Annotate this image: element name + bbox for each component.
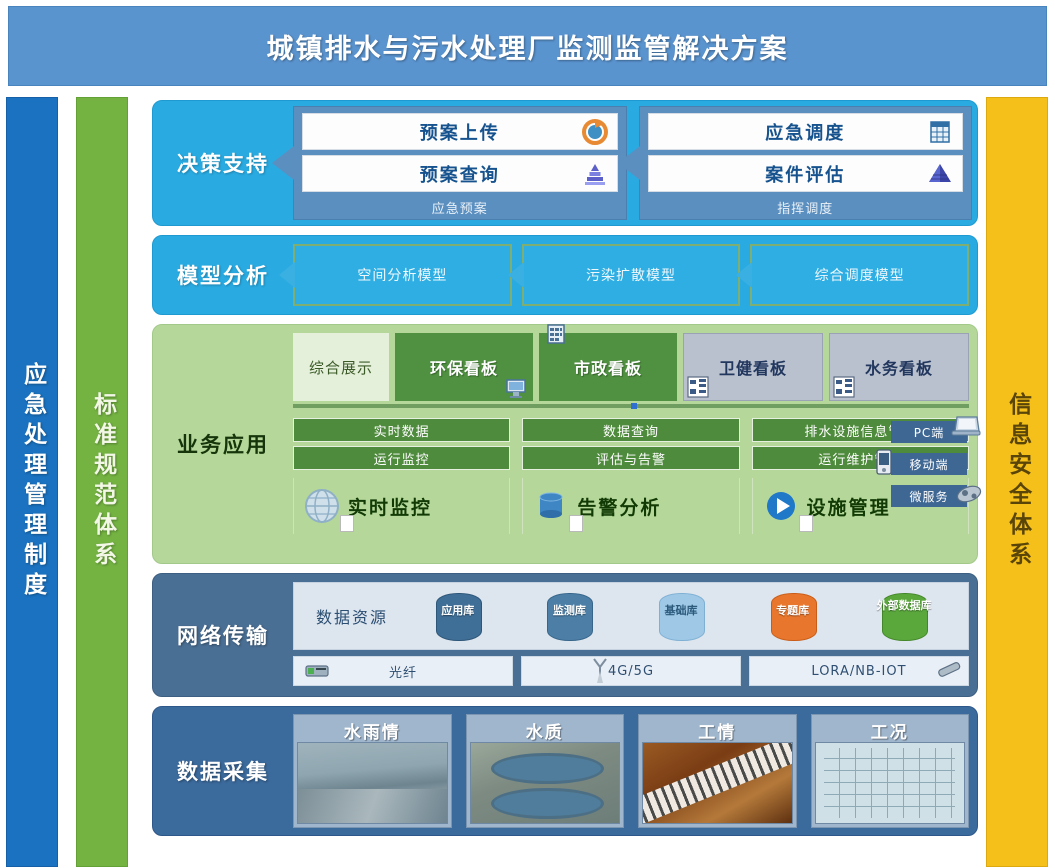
client-mobile[interactable]: 移动端 <box>891 453 967 475</box>
pyramid-chart-icon <box>582 161 608 187</box>
solution-architecture-diagram: 城镇排水与污水处理厂监测监管解决方案 应急处理管理制度 标准规范体系 信息安全体… <box>0 0 1055 868</box>
database-external-label: 外部数据库 <box>876 600 932 612</box>
client-microservice-label: 微服务 <box>909 488 948 505</box>
model-box-integrated-dispatch-label: 综合调度模型 <box>815 265 905 285</box>
network-channel-fiber[interactable]: 光纤 <box>293 656 513 686</box>
business-feature-facility-management-label: 设施管理 <box>807 493 891 520</box>
monitor-icon <box>505 377 527 399</box>
tab-underline <box>293 404 969 408</box>
collection-card-hydrology[interactable]: 水雨情 <box>293 714 452 828</box>
decision-group-emergency-plan-caption: 应急预案 <box>302 197 618 217</box>
sedimentation-tank-photo <box>470 742 621 824</box>
collection-card-operating-condition-caption: 工况 <box>815 718 966 742</box>
model-box-pollution-diffusion[interactable]: 污染扩散模型 <box>522 244 741 306</box>
layer-decision-support-label: 决策支持 <box>153 101 293 225</box>
pillar-standards-system-label: 标准规范体系 <box>89 392 114 572</box>
cylinder-shape <box>436 593 482 641</box>
decision-item-plan-query[interactable]: 预案查询 <box>302 155 618 192</box>
layer-decision-support: 决策支持 预案上传 预案查询 <box>152 100 978 226</box>
pipe-trench-photo <box>642 742 793 824</box>
database-thematic-label: 专题库 <box>765 605 821 617</box>
network-channel-lora[interactable]: LORA/NB-IOT <box>749 656 969 686</box>
tab-water-affairs-board[interactable]: 水务看板 <box>829 333 969 401</box>
layer-model-analysis-label: 模型分析 <box>153 236 293 314</box>
collection-card-engineering[interactable]: 工情 <box>638 714 797 828</box>
decision-item-emergency-dispatch-label: 应急调度 <box>765 119 845 145</box>
pillar-emergency-management-label: 应急处理管理制度 <box>19 362 44 602</box>
business-feature-realtime-monitoring[interactable]: 实时监控 <box>293 478 510 534</box>
document-badge-icon <box>799 515 813 532</box>
pillar-information-security-label: 信息安全体系 <box>1004 392 1029 572</box>
decision-group-command-dispatch: 应急调度 案件评估 <box>639 106 973 220</box>
play-circle-icon <box>761 486 801 526</box>
client-pc[interactable]: PC端 <box>891 421 967 443</box>
laptop-icon <box>951 415 981 439</box>
database-monitoring[interactable]: 监测库 <box>541 591 597 641</box>
decision-item-case-evaluation-label: 案件评估 <box>765 161 845 187</box>
tab-comprehensive-display[interactable]: 综合展示 <box>293 333 389 401</box>
cylinder-shape <box>659 593 705 641</box>
fiber-cable-icon <box>302 660 332 682</box>
business-button-operation-monitor[interactable]: 运行监控 <box>293 446 510 470</box>
pyramid-3d-icon <box>927 161 953 187</box>
database-application[interactable]: 应用库 <box>430 591 486 641</box>
tab-municipal-board[interactable]: 市政看板 <box>539 333 677 401</box>
network-channel-fiber-label: 光纤 <box>389 662 417 681</box>
decision-group-command-dispatch-caption: 指挥调度 <box>648 197 964 217</box>
page-header: 城镇排水与污水处理厂监测监管解决方案 <box>8 6 1047 86</box>
client-mobile-label: 移动端 <box>909 456 948 473</box>
business-button-data-query[interactable]: 数据查询 <box>522 418 739 442</box>
database-basic[interactable]: 基础库 <box>653 591 709 641</box>
layer-stack: 决策支持 预案上传 预案查询 <box>152 100 978 845</box>
business-feature-alarm-analysis[interactable]: 告警分析 <box>522 478 739 534</box>
decision-group-emergency-plan: 预案上传 预案查询 <box>293 106 627 220</box>
model-box-spatial[interactable]: 空间分析模型 <box>293 244 512 306</box>
collection-card-water-quality[interactable]: 水质 <box>466 714 625 828</box>
model-box-pollution-diffusion-label: 污染扩散模型 <box>586 265 676 285</box>
client-pc-label: PC端 <box>914 424 945 441</box>
database-application-label: 应用库 <box>430 605 486 617</box>
mobile-phone-icon <box>876 449 892 475</box>
gear-icon <box>955 481 983 507</box>
collection-card-operating-condition[interactable]: 工况 <box>811 714 970 828</box>
document-badge-icon <box>340 515 354 532</box>
layer-data-collection-label: 数据采集 <box>153 707 293 835</box>
database-monitoring-label: 监测库 <box>541 605 597 617</box>
collection-card-engineering-caption: 工情 <box>642 718 793 742</box>
business-column-query: 数据查询 评估与告警 <box>522 418 739 470</box>
layer-business-application-label: 业务应用 <box>153 325 293 563</box>
business-button-assessment-alarm[interactable]: 评估与告警 <box>522 446 739 470</box>
model-box-spatial-label: 空间分析模型 <box>357 265 447 285</box>
tab-health-board-label: 卫健看板 <box>719 355 787 379</box>
layer-model-analysis: 模型分析 空间分析模型 污染扩散模型 综合调度模型 <box>152 235 978 315</box>
cylinder-shape <box>771 593 817 641</box>
grid-table-icon <box>927 119 953 145</box>
tab-water-affairs-board-label: 水务看板 <box>865 355 933 379</box>
sensor-icon <box>934 658 964 682</box>
database-external[interactable]: 外部数据库 <box>876 591 932 641</box>
business-button-realtime-data[interactable]: 实时数据 <box>293 418 510 442</box>
pillar-emergency-management: 应急处理管理制度 <box>6 97 58 867</box>
collection-card-water-quality-caption: 水质 <box>470 718 621 742</box>
database-icon <box>531 486 571 526</box>
decision-item-case-evaluation[interactable]: 案件评估 <box>648 155 964 192</box>
building-icon <box>545 323 567 345</box>
tab-comprehensive-display-label: 综合展示 <box>309 357 373 378</box>
page-title: 城镇排水与污水处理厂监测监管解决方案 <box>267 27 789 66</box>
layer-network-transmission-label: 网络传输 <box>153 574 293 696</box>
circular-arrows-icon <box>582 119 608 145</box>
scada-diagram-photo <box>815 742 966 824</box>
collection-card-hydrology-caption: 水雨情 <box>297 718 448 742</box>
tab-environmental-board[interactable]: 环保看板 <box>395 333 533 401</box>
document-badge-icon <box>569 515 583 532</box>
river-channel-photo <box>297 742 448 824</box>
network-channel-4g5g[interactable]: 4G/5G <box>521 656 741 686</box>
business-feature-alarm-analysis-label: 告警分析 <box>577 493 661 520</box>
network-channel-4g5g-label: 4G/5G <box>608 664 654 679</box>
globe-icon <box>302 486 342 526</box>
decision-item-plan-query-label: 预案查询 <box>420 161 500 187</box>
cylinder-shape <box>547 593 593 641</box>
flowchart-icon <box>833 376 855 398</box>
database-basic-label: 基础库 <box>653 605 709 617</box>
tab-health-board[interactable]: 卫健看板 <box>683 333 823 401</box>
antenna-icon <box>590 657 610 685</box>
client-microservice[interactable]: 微服务 <box>891 485 967 507</box>
pillar-information-security: 信息安全体系 <box>986 97 1048 867</box>
business-column-realtime: 实时数据 运行监控 <box>293 418 510 470</box>
tab-environmental-board-label: 环保看板 <box>430 355 498 379</box>
data-resources-label: 数据资源 <box>302 604 402 628</box>
layer-network-transmission: 网络传输 数据资源 应用库 监测库 <box>152 573 978 697</box>
database-thematic[interactable]: 专题库 <box>765 591 821 641</box>
tab-municipal-board-label: 市政看板 <box>574 355 642 379</box>
flowchart-icon <box>687 376 709 398</box>
business-feature-realtime-monitoring-label: 实时监控 <box>348 493 432 520</box>
pillar-standards-system: 标准规范体系 <box>76 97 128 867</box>
layer-data-collection: 数据采集 水雨情 水质 工情 工况 <box>152 706 978 836</box>
network-channel-lora-label: LORA/NB-IOT <box>811 664 906 679</box>
decision-item-plan-upload-label: 预案上传 <box>420 119 500 145</box>
layer-business-application: 业务应用 综合展示 环保看板 <box>152 324 978 564</box>
decision-item-emergency-dispatch[interactable]: 应急调度 <box>648 113 964 150</box>
model-box-integrated-dispatch[interactable]: 综合调度模型 <box>750 244 969 306</box>
decision-item-plan-upload[interactable]: 预案上传 <box>302 113 618 150</box>
